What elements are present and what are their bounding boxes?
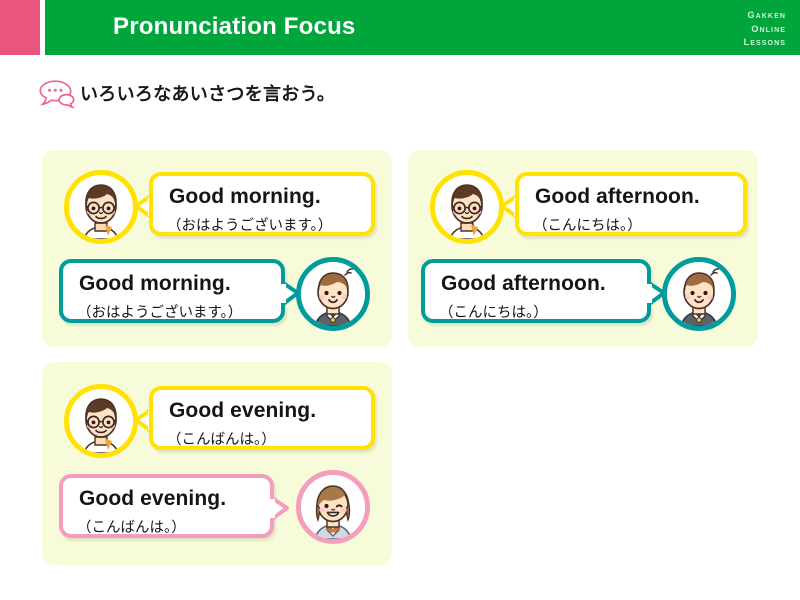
teacher-speech-bubble: Good afternoon. （こんにちは。） <box>515 172 747 236</box>
dialogue-panel-afternoon: Good afternoon. （こんにちは。） Good afternoon.… <box>408 150 758 347</box>
teacher-speech-bubble: Good morning. （おはようございます。） <box>149 172 375 236</box>
page-title: Pronunciation Focus <box>113 13 355 41</box>
dialogue-panel-evening: Good evening. （こんばんは。） Good evening. （こん… <box>42 362 392 565</box>
bubble-japanese-text: （こんばんは。） <box>167 428 276 449</box>
bubble-japanese-text: （おはようございます。） <box>77 301 242 322</box>
header-accent-block <box>0 0 40 55</box>
teacher-avatar <box>64 170 138 244</box>
subtitle-row: いろいろなあいさつを言おう。 <box>34 76 335 110</box>
header-green-bar: Pronunciation Focus Gakken Online Lesson… <box>45 0 800 55</box>
girl-avatar <box>296 470 370 544</box>
bubble-english-text: Good morning. <box>169 185 321 209</box>
bubble-english-text: Good evening. <box>169 399 316 423</box>
speech-bubbles-icon <box>34 77 76 109</box>
student-speech-bubble: Good morning. （おはようございます。） <box>59 259 285 323</box>
bubble-japanese-text: （おはようございます。） <box>167 214 332 235</box>
bubble-english-text: Good afternoon. <box>535 185 700 209</box>
slide-header: Pronunciation Focus Gakken Online Lesson… <box>0 0 800 55</box>
brand-line-2: Online <box>744 22 786 36</box>
dialogue-panel-morning: Good morning. （おはようございます。） Good morning.… <box>42 150 392 347</box>
bubble-japanese-text: （こんにちは。） <box>439 301 548 322</box>
bubble-english-text: Good afternoon. <box>441 272 606 296</box>
teacher-speech-bubble: Good evening. （こんばんは。） <box>149 386 375 450</box>
student-speech-bubble: Good evening. （こんばんは。） <box>59 474 274 538</box>
bubble-english-text: Good evening. <box>79 487 226 511</box>
teacher-avatar <box>64 384 138 458</box>
brand-line-1: Gakken <box>744 8 786 22</box>
bubble-english-text: Good morning. <box>79 272 231 296</box>
student-speech-bubble: Good afternoon. （こんにちは。） <box>421 259 651 323</box>
subtitle-text: いろいろなあいさつを言おう。 <box>80 80 335 106</box>
student-bubble-tail <box>271 496 289 522</box>
brand-line-3: Lessons <box>744 35 786 49</box>
teacher-avatar <box>430 170 504 244</box>
bubble-japanese-text: （こんばんは。） <box>77 516 186 537</box>
boy-avatar <box>296 257 370 331</box>
brand-logo: Gakken Online Lessons <box>744 8 786 49</box>
bubble-japanese-text: （こんにちは。） <box>533 214 642 235</box>
boy-avatar <box>662 257 736 331</box>
